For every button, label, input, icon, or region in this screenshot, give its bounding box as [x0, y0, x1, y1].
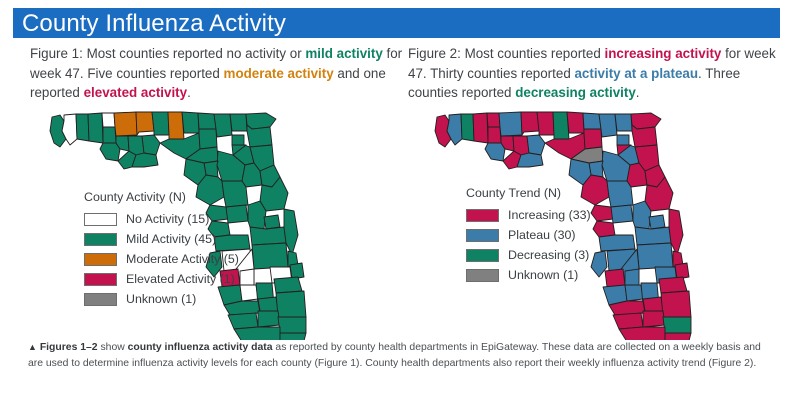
figure1-caption-mild: mild activity: [305, 46, 382, 61]
legend-label-unknown-activity: Unknown (1): [126, 292, 196, 306]
figure2-column: Figure 2: Most counties reported increas…: [408, 44, 788, 103]
county-washington: [103, 127, 116, 143]
legend-label-plateau: Plateau (30): [508, 228, 576, 242]
swatch-elevated-activity: [84, 273, 117, 286]
county-washington: [488, 127, 501, 143]
county-desoto: [625, 285, 643, 301]
county-orange: [250, 227, 286, 245]
county-hernando: [593, 221, 615, 237]
county-baker: [615, 114, 632, 131]
legend-item-decreasing: Decreasing (3): [466, 246, 591, 264]
county-st-lucie: [290, 263, 304, 279]
county-suwannee: [584, 129, 602, 149]
county-columbia: [214, 114, 232, 137]
county-pasco: [599, 235, 635, 251]
county-desoto: [240, 285, 258, 301]
swatch-unknown-trend: [466, 269, 499, 282]
legend-label-unknown-trend: Unknown (1): [508, 268, 578, 282]
county-marion: [607, 181, 633, 207]
county-collier: [234, 327, 280, 340]
figure1-legend-title: County Activity (N): [84, 190, 239, 204]
county-franklin: [517, 153, 543, 167]
county-liberty: [128, 136, 144, 155]
county-pinellas: [591, 251, 607, 277]
county-gadsden: [521, 112, 539, 135]
county-nassau: [631, 113, 661, 129]
county-seminole: [264, 215, 280, 229]
county-union: [232, 135, 244, 145]
county-walton: [88, 113, 103, 143]
legend-item-increasing: Increasing (33): [466, 206, 591, 224]
figure2-caption-t1: Figure 2: Most counties reported: [408, 46, 605, 61]
county-jackson: [499, 112, 522, 136]
county-wakulla: [527, 135, 545, 155]
county-liberty: [513, 136, 529, 155]
county-okaloosa: [76, 114, 89, 141]
county-okaloosa: [461, 114, 474, 141]
county-bay: [485, 143, 505, 161]
page-header-bar: County Influenza Activity: [13, 8, 780, 38]
figure1-caption-elevated: elevated activity: [84, 85, 187, 100]
legend-item-no-activity: No Activity (15): [84, 210, 239, 228]
county-lee: [228, 313, 258, 329]
county-martin: [274, 277, 302, 293]
county-st-lucie: [675, 263, 689, 279]
county-manatee: [605, 269, 625, 287]
county-hardee: [625, 269, 639, 285]
county-broward: [278, 317, 306, 333]
county-osceola: [252, 243, 288, 269]
legend-item-moderate-activity: Moderate Activity (5): [84, 250, 239, 268]
page-title: County Influenza Activity: [22, 9, 286, 38]
figure1-caption-moderate: moderate activity: [224, 66, 334, 81]
footnote-figures-label: Figures 1–2: [40, 342, 98, 353]
figure2-caption-decreasing: decreasing activity: [515, 85, 636, 100]
county-glades: [643, 297, 663, 311]
county-palm-beach: [276, 291, 306, 317]
swatch-no-activity: [84, 213, 117, 226]
legend-item-unknown-trend: Unknown (1): [466, 266, 591, 284]
county-duval: [632, 125, 657, 147]
county-osceola: [637, 243, 673, 269]
legend-label-elevated-activity: Elevated Activity (1): [126, 272, 235, 286]
county-holmes: [487, 113, 500, 127]
county-hardee: [240, 269, 254, 285]
figure2-legend: County Trend (N) Increasing (33) Plateau…: [466, 186, 591, 286]
county-broward: [663, 317, 691, 333]
legend-item-mild-activity: Mild Activity (45): [84, 230, 239, 248]
county-gadsden: [136, 112, 154, 135]
county-lee: [613, 313, 643, 329]
figure1-caption-t4: .: [187, 85, 191, 100]
legend-item-plateau: Plateau (30): [466, 226, 591, 244]
county-franklin: [132, 153, 158, 167]
county-suwannee: [199, 129, 217, 149]
swatch-unknown-activity: [84, 293, 117, 306]
county-hendry: [643, 311, 665, 327]
county-palm-beach: [661, 291, 691, 317]
triangle-icon: ▲: [28, 342, 37, 352]
county-columbia: [599, 114, 617, 137]
county-glades: [258, 297, 278, 311]
county-miami-dade: [280, 333, 306, 340]
swatch-plateau: [466, 229, 499, 242]
county-union: [617, 135, 629, 145]
figure1-column: Figure 1: Most counties reported no acti…: [30, 44, 410, 103]
county-nassau: [246, 113, 276, 129]
legend-label-increasing: Increasing (33): [508, 208, 591, 222]
county-citrus: [591, 205, 613, 221]
legend-item-unknown-activity: Unknown (1): [84, 290, 239, 308]
figure1-caption: Figure 1: Most counties reported no acti…: [30, 44, 410, 103]
legend-label-mild-activity: Mild Activity (45): [126, 232, 216, 246]
county-leon: [537, 112, 554, 135]
county-seminole: [649, 215, 665, 229]
footnote-t1: show: [98, 342, 128, 353]
county-miami-dade: [665, 333, 691, 340]
county-hamilton: [198, 113, 216, 129]
legend-label-moderate-activity: Moderate Activity (5): [126, 252, 239, 266]
county-holmes: [102, 113, 115, 127]
county-jefferson: [168, 112, 184, 139]
county-collier: [619, 327, 665, 340]
county-walton: [473, 113, 488, 143]
county-wakulla: [142, 135, 160, 155]
swatch-decreasing: [466, 249, 499, 262]
county-madison: [567, 112, 584, 133]
figure2-legend-title: County Trend (N): [466, 186, 591, 200]
figure1-legend: County Activity (N) No Activity (15) Mil…: [84, 190, 239, 310]
county-baker: [230, 114, 247, 131]
figure1-caption-t1: Figure 1: Most counties reported no acti…: [30, 46, 305, 61]
county-duval: [247, 125, 272, 147]
county-hamilton: [583, 113, 601, 129]
swatch-increasing: [466, 209, 499, 222]
legend-label-decreasing: Decreasing (3): [508, 248, 589, 262]
county-jefferson: [553, 112, 569, 139]
county-sumter: [611, 205, 633, 223]
legend-label-no-activity: No Activity (15): [126, 212, 209, 226]
figure2-caption-increasing: increasing activity: [605, 46, 722, 61]
county-hendry: [258, 311, 280, 327]
county-jackson: [114, 112, 137, 136]
swatch-moderate-activity: [84, 253, 117, 266]
figure2-caption: Figure 2: Most counties reported increas…: [408, 44, 788, 103]
footnote-data-label: county influenza activity data: [128, 342, 273, 353]
county-madison: [182, 112, 199, 133]
county-bay: [100, 143, 120, 161]
figure2-caption-plateau: activity at a plateau: [574, 66, 698, 81]
figure2-caption-t4: .: [636, 85, 640, 100]
top-rule: [0, 0, 801, 3]
legend-item-elevated-activity: Elevated Activity (1): [84, 270, 239, 288]
footnote: ▲ Figures 1–2 show county influenza acti…: [28, 340, 768, 371]
county-martin: [659, 277, 687, 293]
county-orange: [635, 227, 671, 245]
county-leon: [152, 112, 169, 135]
swatch-mild-activity: [84, 233, 117, 246]
